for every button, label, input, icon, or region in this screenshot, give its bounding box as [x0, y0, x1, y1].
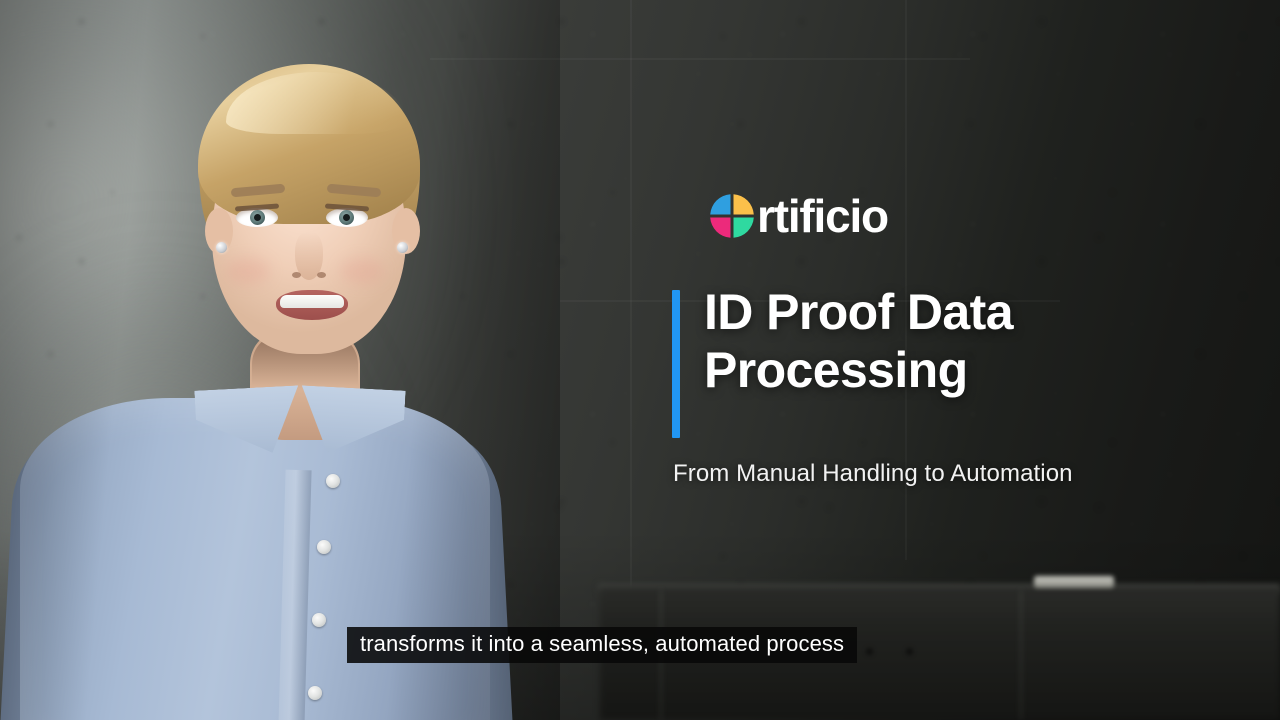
- shirt-button: [317, 540, 331, 554]
- shirt-torso: [20, 398, 490, 720]
- page-title: ID Proof Data Processing: [704, 283, 1244, 399]
- pupil-left: [254, 214, 261, 221]
- cheek-left: [226, 258, 270, 284]
- nostril-left: [292, 272, 301, 278]
- shirt-button: [312, 613, 326, 627]
- mouth: [276, 290, 348, 320]
- shirt-button: [308, 686, 322, 700]
- video-frame: rtificio ID Proof Data Processing From M…: [0, 0, 1280, 720]
- earring-right: [397, 242, 408, 253]
- brand-wordmark: rtificio: [757, 193, 888, 239]
- headline-line-1: ID Proof Data: [704, 283, 1244, 341]
- text-overlay: rtificio ID Proof Data Processing From M…: [672, 0, 1280, 720]
- cheek-right: [340, 258, 384, 284]
- shirt-button: [326, 474, 340, 488]
- caption-bar: transforms it into a seamless, automated…: [347, 627, 857, 663]
- brand-logo: rtificio: [708, 192, 888, 240]
- presenter: [0, 0, 560, 720]
- accent-bar: [672, 290, 680, 438]
- subtitle: From Manual Handling to Automation: [673, 460, 1073, 488]
- artificio-quadrant-logo-icon: [708, 192, 756, 240]
- teeth: [280, 295, 344, 308]
- headline-line-2: Processing: [704, 341, 1244, 399]
- earring-left: [216, 242, 227, 253]
- nostril-right: [317, 272, 326, 278]
- pupil-right: [343, 214, 350, 221]
